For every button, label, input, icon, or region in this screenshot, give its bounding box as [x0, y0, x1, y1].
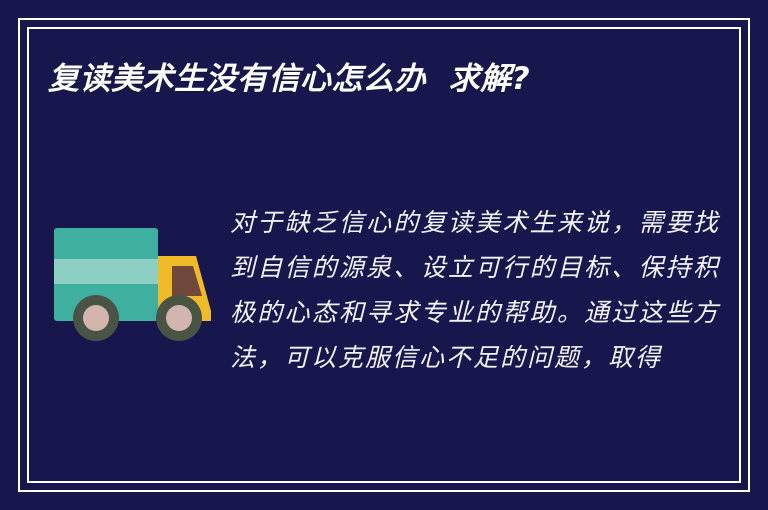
body-block: 对于缺乏信心的复读美术生来说，需要找到自信的源泉、设立可行的目标、保持积极的心态…: [230, 200, 720, 380]
page-title: 复读美术生没有信心怎么办 求解?: [48, 58, 708, 100]
delivery-truck-illustration: [48, 200, 218, 346]
truck-icon: [48, 218, 218, 346]
truck-front-hub: [166, 305, 192, 331]
content-row: 对于缺乏信心的复读美术生来说，需要找到自信的源泉、设立可行的目标、保持积极的心态…: [48, 200, 720, 380]
title-text: 复读美术生没有信心怎么办 求解?: [48, 58, 708, 100]
truck-rear-hub: [83, 305, 109, 331]
body-text: 对于缺乏信心的复读美术生来说，需要找到自信的源泉、设立可行的目标、保持积极的心态…: [230, 200, 720, 380]
info-card: 复读美术生没有信心怎么办 求解? 对于缺乏信心的复读美术生: [0, 0, 768, 510]
truck-cargo-stripe: [54, 259, 158, 284]
